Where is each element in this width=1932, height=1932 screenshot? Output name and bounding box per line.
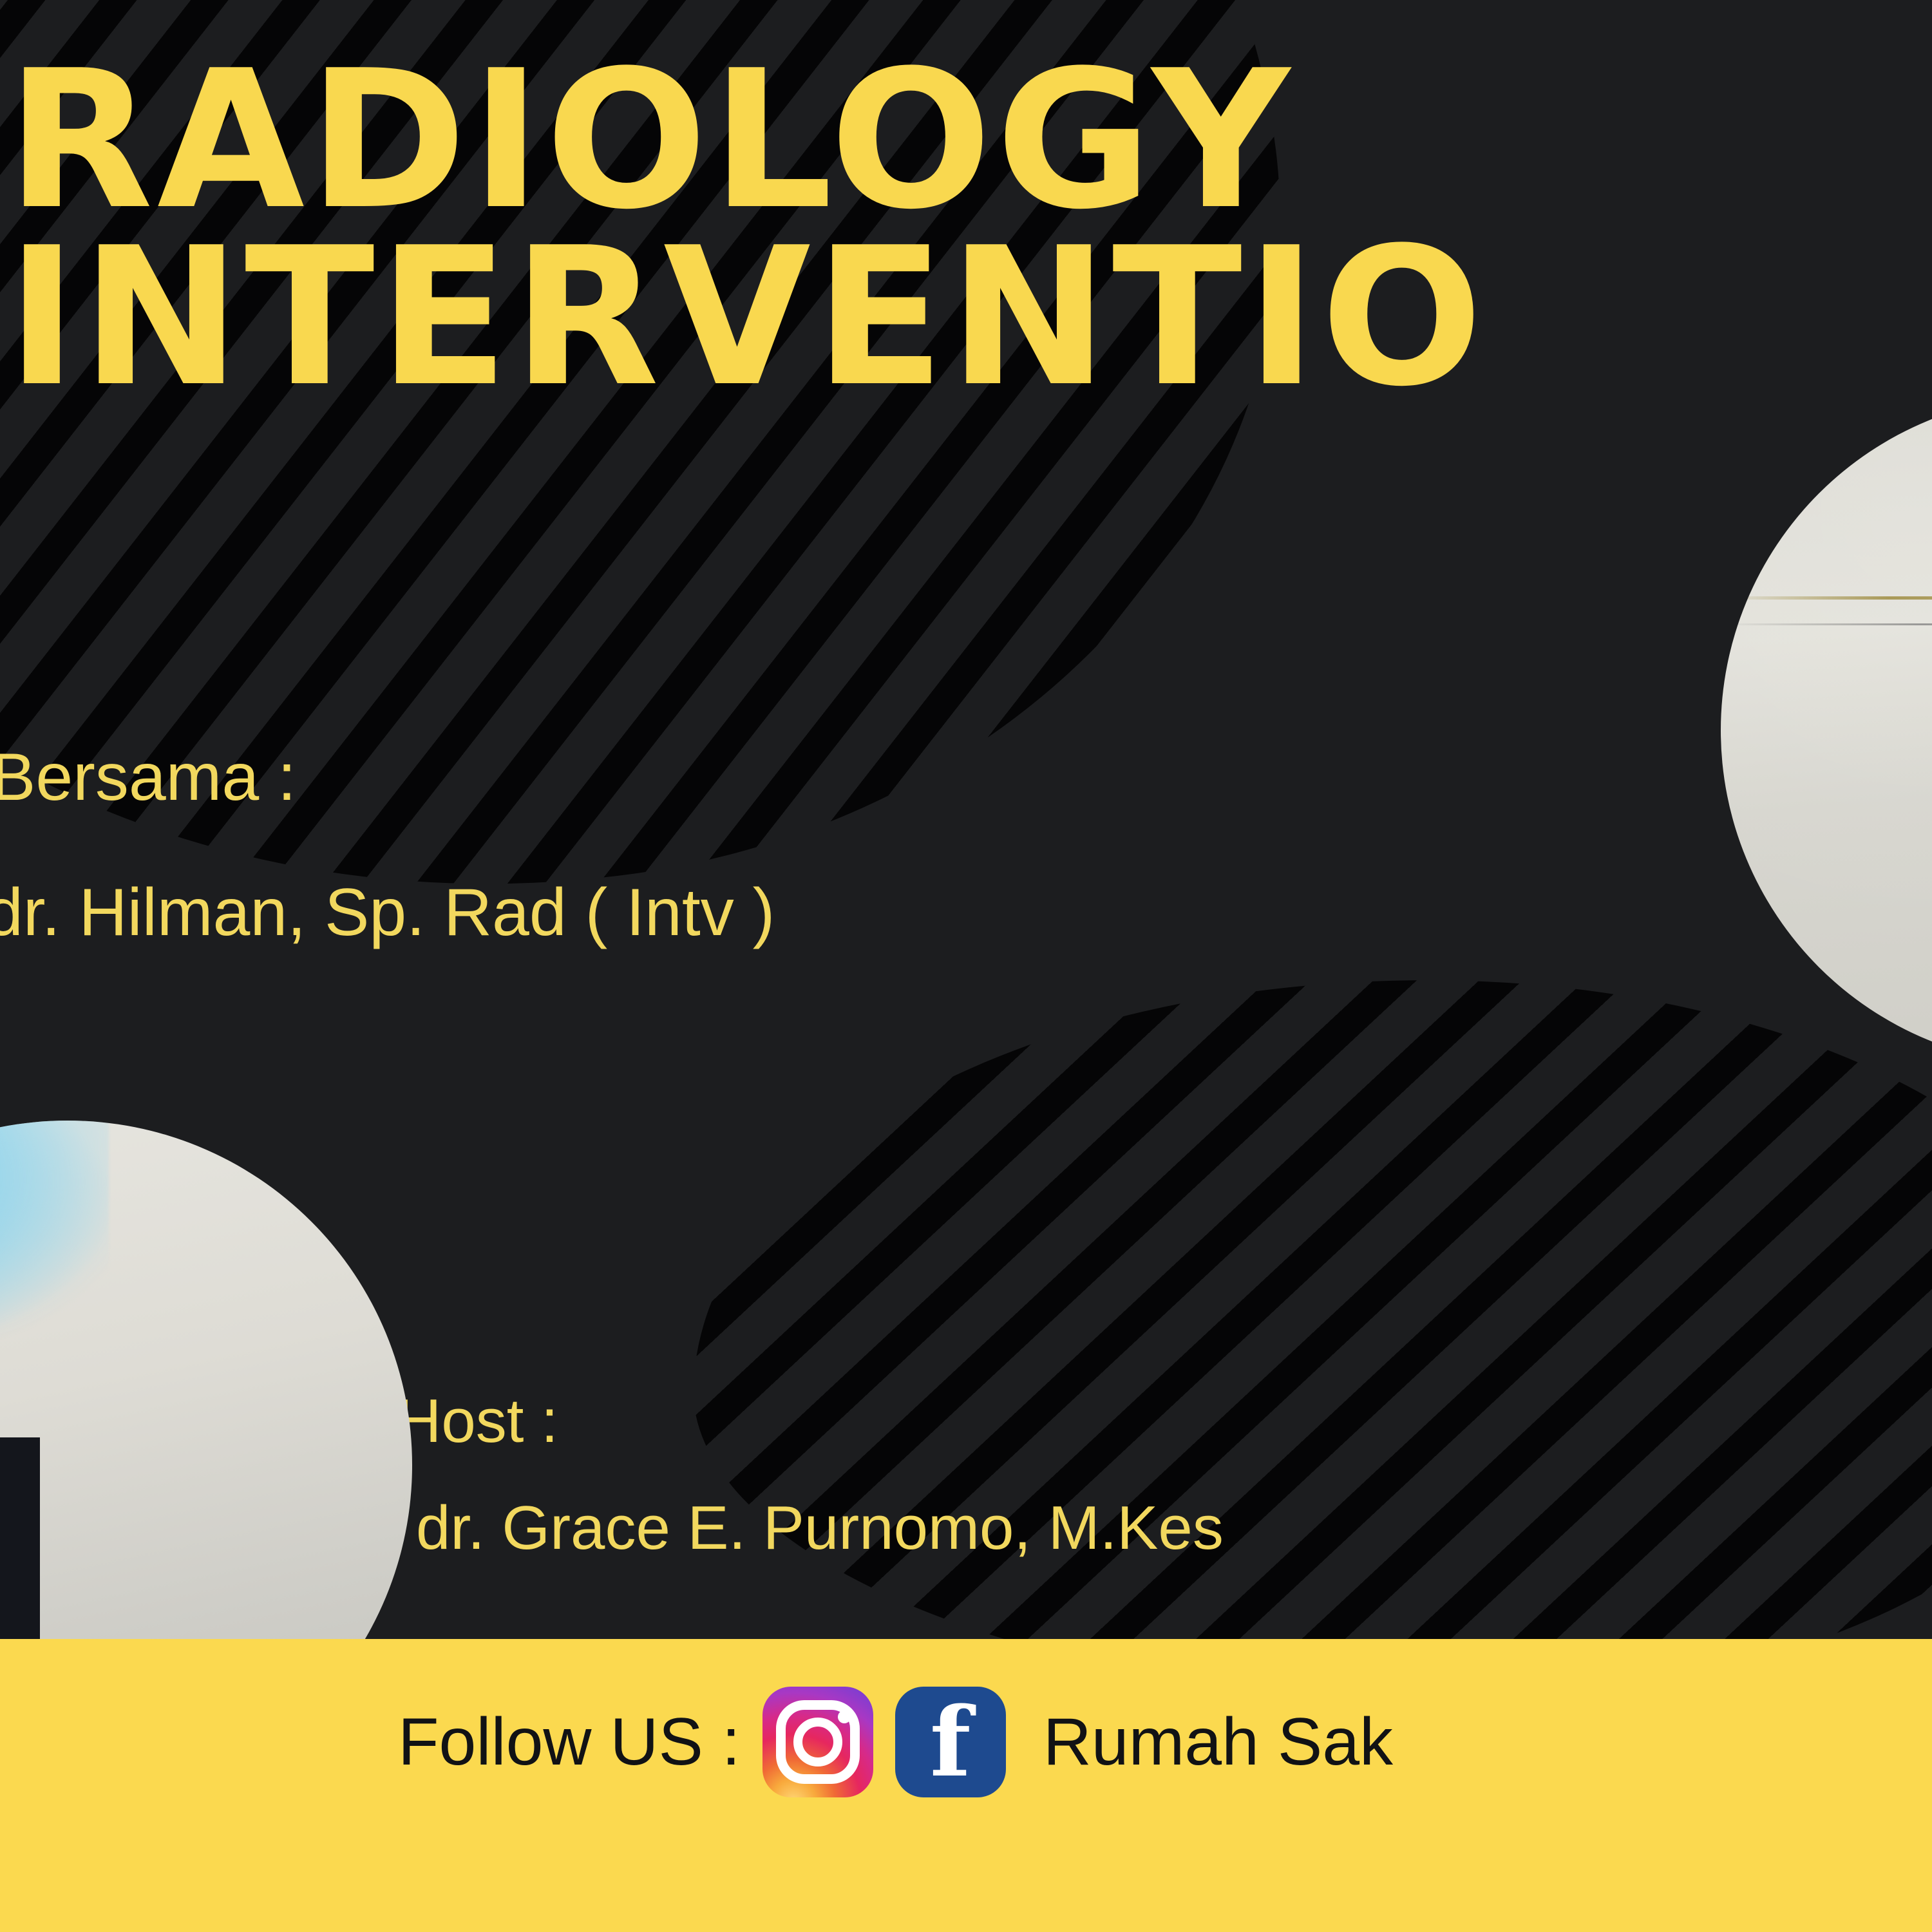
instagram-lens-shape bbox=[793, 1718, 842, 1766]
title-line-2: INTERVENTIO bbox=[6, 229, 1932, 406]
facebook-icon[interactable]: f bbox=[895, 1687, 1006, 1797]
host-label: Host : bbox=[397, 1386, 558, 1457]
diagonal-stripe-blob-middle bbox=[683, 954, 1932, 1725]
facebook-f-glyph: f bbox=[895, 1687, 1006, 1797]
footer-banner: Follow US : f Rumah Sak bbox=[0, 1639, 1932, 1932]
title-line-1: RADIOLOGY bbox=[6, 52, 1932, 229]
follow-us-row: Follow US : f Rumah Sak bbox=[398, 1687, 1393, 1797]
speaker-name: dr. Hilman, Sp. Rad ( Intv ) bbox=[0, 875, 775, 951]
studio-microphone-right-photo bbox=[1721, 395, 1932, 1065]
instagram-icon[interactable] bbox=[762, 1687, 873, 1797]
wall-streak bbox=[1721, 596, 1932, 600]
follow-us-label: Follow US : bbox=[398, 1709, 741, 1776]
page-title: RADIOLOGY INTERVENTIO bbox=[6, 52, 1932, 406]
poster-canvas: RADIOLOGY INTERVENTIO Bersama : dr. Hilm… bbox=[0, 0, 1932, 1932]
instagram-dot-shape bbox=[838, 1710, 851, 1723]
wall-streak bbox=[1721, 623, 1932, 625]
host-name: dr. Grace E. Purnomo, M.Kes bbox=[416, 1493, 1224, 1564]
speaker-label: Bersama : bbox=[0, 739, 296, 816]
wall-blue-pattern bbox=[0, 1121, 109, 1368]
account-name: Rumah Sak bbox=[1043, 1709, 1393, 1776]
